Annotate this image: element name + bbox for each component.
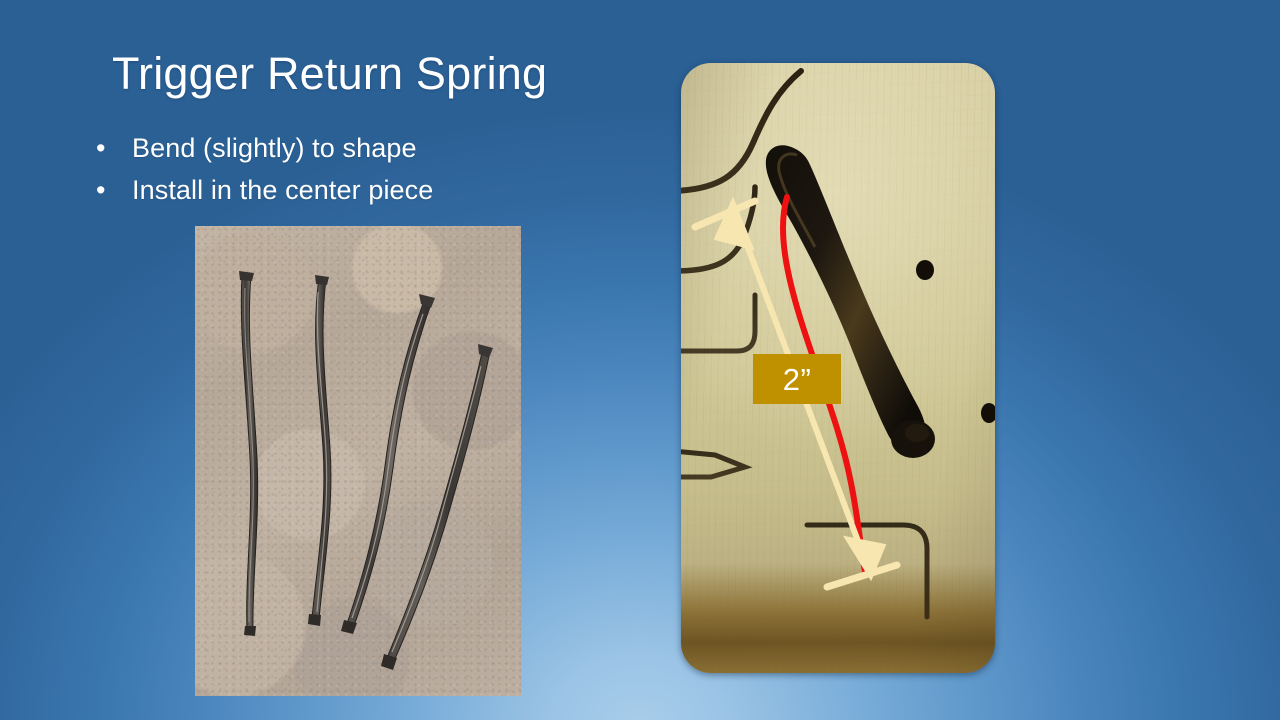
list-item: • Install in the center piece (90, 170, 610, 212)
bullet-text: Install in the center piece (132, 170, 433, 210)
pin-hole (916, 260, 934, 280)
bullet-text: Bend (slightly) to shape (132, 128, 417, 168)
list-item: • Bend (slightly) to shape (90, 128, 610, 170)
pin-hole (981, 403, 995, 423)
bullet-marker-icon: • (90, 128, 132, 168)
trigger-cutout (766, 144, 935, 458)
dimension-label: 2” (753, 354, 841, 404)
spring-strips-illustration (195, 226, 521, 696)
spring-strip (239, 271, 258, 636)
laser-kerf-lines (681, 69, 981, 617)
slide-canvas: Trigger Return Spring • Bend (slightly) … (0, 0, 1280, 720)
page-title: Trigger Return Spring (112, 48, 547, 100)
springs-photo (195, 226, 521, 696)
slide-background (0, 0, 1280, 720)
bullet-list: • Bend (slightly) to shape • Install in … (90, 128, 610, 212)
bullet-marker-icon: • (90, 170, 132, 210)
spring-strip (308, 275, 331, 626)
